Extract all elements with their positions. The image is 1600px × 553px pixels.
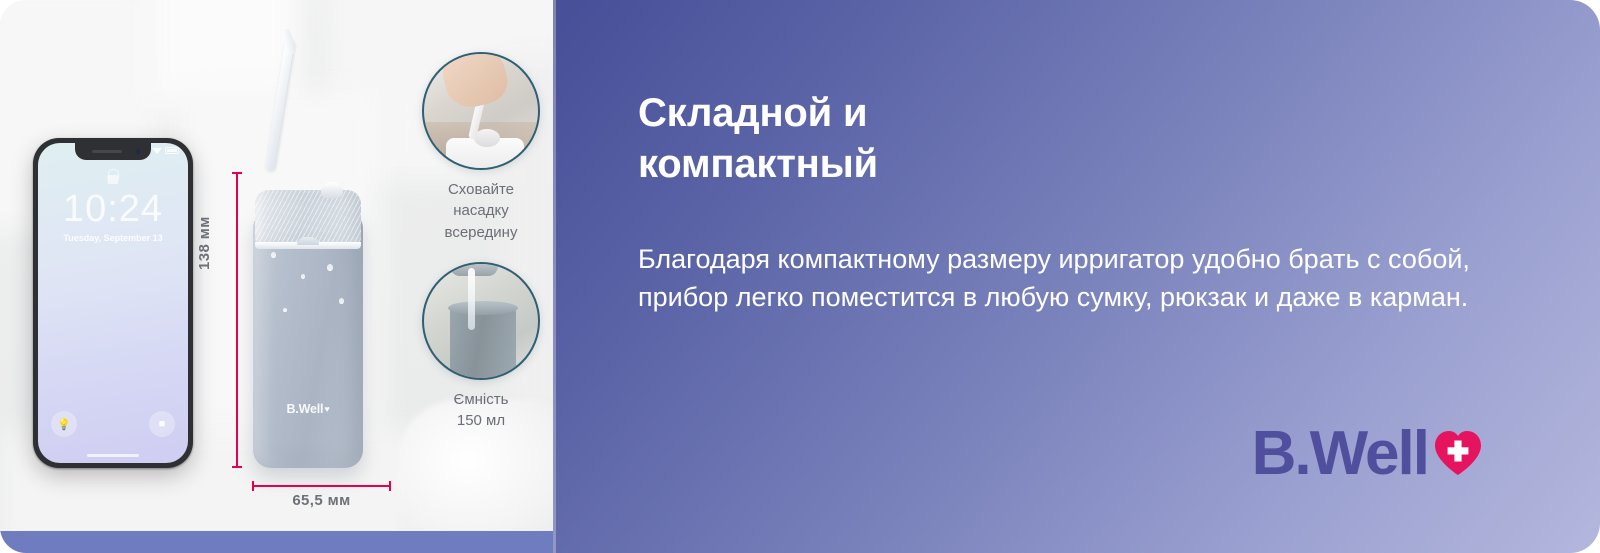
lock-icon xyxy=(108,175,119,184)
caption-line-3: всередину xyxy=(422,222,540,243)
promo-banner: 10:24 Tuesday, September 13 💡 ■ B.Well♥ xyxy=(0,0,1600,553)
caption-line-1: Сховайте xyxy=(422,179,540,200)
water-drop xyxy=(271,252,276,258)
text-content-panel: Складной и компактный Благодаря компактн… xyxy=(553,0,1600,553)
bottom-accent-strip xyxy=(0,531,553,553)
water-drop xyxy=(283,308,287,312)
photo-device-base xyxy=(446,138,524,170)
product-brand-heart-icon: ♥ xyxy=(324,404,329,414)
caption-line-1: Ємність xyxy=(422,389,540,410)
feature-photo-capacity xyxy=(422,262,540,380)
irrigator-product: B.Well♥ xyxy=(253,168,363,468)
headline-line-1: Складной и xyxy=(638,88,1158,139)
body-description: Благодаря компактному размеру ирригатор … xyxy=(638,240,1528,317)
product-image-panel: 10:24 Tuesday, September 13 💡 ■ B.Well♥ xyxy=(0,0,553,553)
height-measure-line xyxy=(236,172,238,468)
battery-icon xyxy=(165,147,179,154)
feature-hide-nozzle: Сховайте насадку всередину xyxy=(422,52,540,243)
irrigator-seam xyxy=(255,242,361,249)
phone-mockup: 10:24 Tuesday, September 13 💡 ■ xyxy=(33,138,193,468)
heart-cross-icon xyxy=(1434,430,1482,476)
feature-caption-nozzle: Сховайте насадку всередину xyxy=(422,179,540,243)
flashlight-icon[interactable]: 💡 xyxy=(51,411,77,437)
home-indicator xyxy=(87,454,139,458)
feature-capacity: Ємність 150 мл xyxy=(422,262,540,432)
phone-date: Tuesday, September 13 xyxy=(38,233,188,243)
feature-caption-capacity: Ємність 150 мл xyxy=(422,389,540,432)
wifi-icon xyxy=(152,148,162,154)
phone-speaker xyxy=(92,150,122,153)
phone-front-camera-icon xyxy=(136,149,141,154)
photo-reservoir-cup xyxy=(450,306,516,380)
water-drop xyxy=(339,298,344,304)
camera-icon[interactable]: ■ xyxy=(149,411,175,437)
irrigator-knob xyxy=(321,182,343,198)
panel-divider xyxy=(553,0,556,553)
photo-water-stream xyxy=(468,268,475,330)
product-brand-word: B.Well xyxy=(287,402,324,416)
height-measure-label: 138 мм xyxy=(196,216,213,270)
feature-photo-nozzle xyxy=(422,52,540,170)
product-brand-logo: B.Well♥ xyxy=(253,402,363,416)
irrigator-cap xyxy=(255,190,361,244)
caption-line-2: насадку xyxy=(422,200,540,221)
phone-notch xyxy=(75,143,151,160)
phone-time: 10:24 xyxy=(38,189,188,231)
phone-lockscreen: 10:24 Tuesday, September 13 💡 ■ xyxy=(38,143,188,463)
brand-logo: B.Well xyxy=(1252,423,1482,485)
photo-hand xyxy=(438,52,512,113)
caption-line-2: 150 мл xyxy=(422,410,540,431)
page-title: Складной и компактный xyxy=(638,88,1158,190)
width-measure-label: 65,5 мм xyxy=(252,492,391,509)
headline-line-2: компактный xyxy=(638,139,1158,190)
water-drop xyxy=(327,264,333,271)
width-measure-line xyxy=(252,485,391,487)
irrigator-body: B.Well♥ xyxy=(253,212,363,468)
water-drop xyxy=(301,274,305,279)
brand-wordmark: B.Well xyxy=(1252,423,1428,485)
